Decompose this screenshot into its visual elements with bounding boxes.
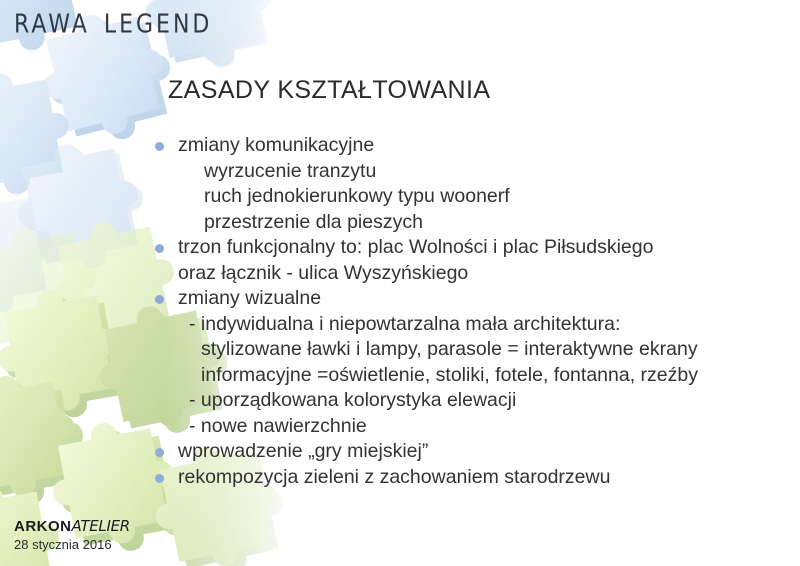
line-text: ruch jednokierunkowy typu woonerf: [204, 185, 510, 207]
bullet-item: zmiany komunikacyjne: [152, 133, 772, 159]
line-text: rekompozycja zieleni z zachowaniem staro…: [178, 466, 610, 488]
sub-line: - nowe nawierzchnie: [152, 414, 772, 440]
sub-line: - indywidualna i niepowtarzalna mała arc…: [152, 312, 772, 338]
bullet-marker-icon: [155, 244, 164, 253]
bullet-item: trzon funkcjonalny to: plac Wolności i p…: [152, 235, 772, 261]
arkon-atelier-brand: ARKONATELIER: [14, 518, 130, 535]
bullet-item: wprowadzenie „gry miejskiej”: [152, 439, 772, 465]
rawa-legend-logo: RAWALEGEND: [14, 10, 212, 40]
bullet-marker-icon: [155, 142, 164, 151]
bullet-item: zmiany wizualne: [152, 286, 772, 312]
bullet-marker-icon: [155, 295, 164, 304]
brand-name-atelier: ATELIER: [72, 517, 130, 535]
sub-line: informacyjne =oświetlenie, stoliki, fote…: [152, 363, 772, 389]
line-text: - indywidualna i niepowtarzalna mała arc…: [189, 313, 620, 335]
line-text: zmiany komunikacyjne: [178, 134, 374, 156]
footer: ARKONATELIER 28 stycznia 2016: [14, 518, 130, 553]
sub-line: - uporządkowana kolorystyka elewacji: [152, 388, 772, 414]
logo-part-rawa: RAWA: [14, 10, 90, 40]
brand-name-arkon: ARKON: [14, 518, 72, 535]
sub-line: wyrzucenie tranzytu: [152, 159, 772, 185]
line-text: - nowe nawierzchnie: [189, 415, 367, 437]
bullet-item: rekompozycja zieleni z zachowaniem staro…: [152, 465, 772, 491]
content-bullet-list: zmiany komunikacyjnewyrzucenie tranzytur…: [152, 133, 772, 490]
line-text: wyrzucenie tranzytu: [204, 160, 376, 182]
line-text: przestrzenie dla pieszych: [204, 211, 423, 233]
logo-part-legend: LEGEND: [104, 10, 213, 40]
sub-line: stylizowane ławki i lampy, parasole = in…: [152, 337, 772, 363]
bullet-marker-icon: [155, 474, 164, 483]
line-text: informacyjne =oświetlenie, stoliki, fote…: [201, 364, 698, 386]
line-text: trzon funkcjonalny to: plac Wolności i p…: [178, 236, 653, 258]
presentation-slide: RAWALEGEND ZASADY KSZTAŁTOWANIA zmiany k…: [0, 0, 800, 566]
line-text: zmiany wizualne: [178, 287, 321, 309]
bullet-marker-icon: [155, 448, 164, 457]
sub-line: przestrzenie dla pieszych: [152, 210, 772, 236]
line-text: oraz łącznik - ulica Wyszyńskiego: [178, 262, 468, 284]
line-text: - uporządkowana kolorystyka elewacji: [189, 389, 516, 411]
page-title: ZASADY KSZTAŁTOWANIA: [168, 76, 490, 105]
line-text: wprowadzenie „gry miejskiej”: [178, 440, 428, 462]
sub-line: oraz łącznik - ulica Wyszyńskiego: [152, 261, 772, 287]
slide-date: 28 stycznia 2016: [14, 537, 130, 553]
sub-line: ruch jednokierunkowy typu woonerf: [152, 184, 772, 210]
line-text: stylizowane ławki i lampy, parasole = in…: [201, 338, 698, 360]
